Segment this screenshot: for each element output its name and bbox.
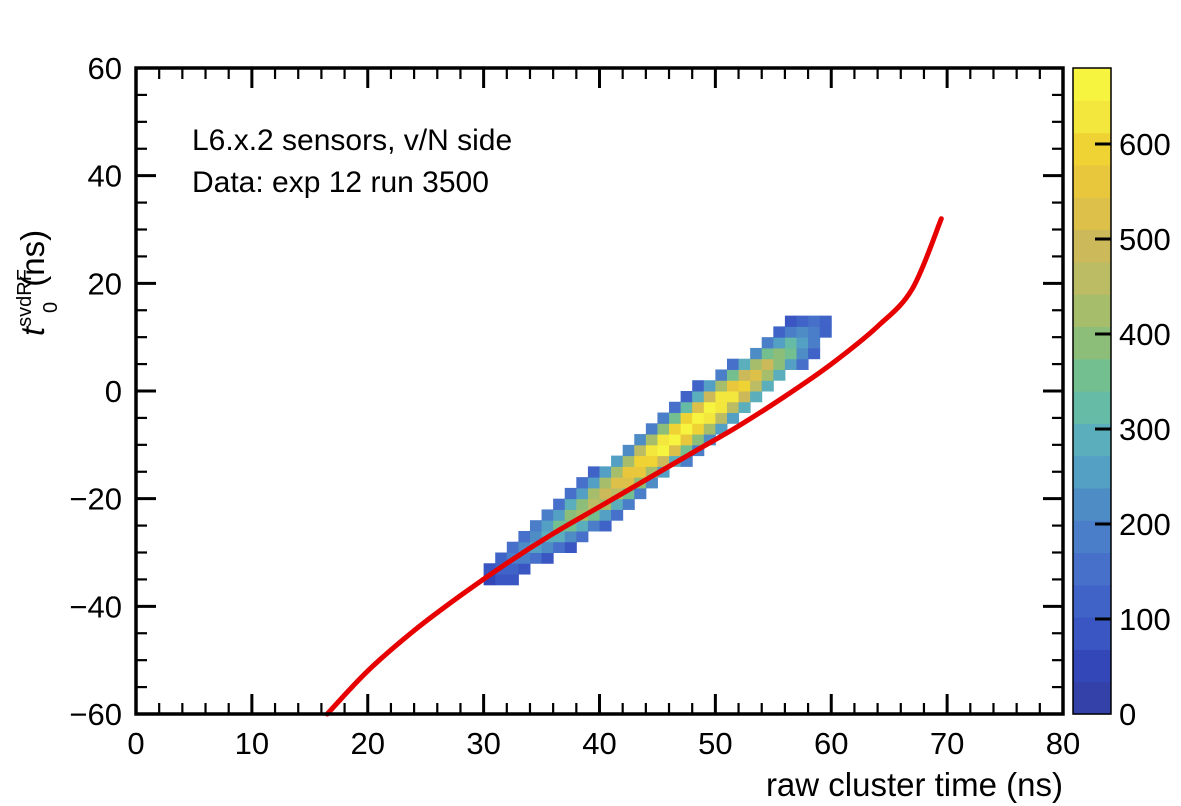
heatmap-bin [762,348,774,359]
heatmap-bin [762,359,774,370]
heatmap-bin [576,488,588,499]
x-tick-label: 40 [582,726,616,761]
colorbar-tick-label: 500 [1119,222,1171,257]
heatmap-bin [750,380,762,391]
heatmap-bin [785,326,797,337]
x-axis-title: raw cluster time (ns) [766,766,1063,803]
heatmap-bin [634,445,646,456]
heatmap-bin [600,509,612,520]
heatmap-bin [530,520,542,531]
heatmap-bin [576,499,588,510]
heatmap-bin [727,413,739,424]
heatmap-bin [623,445,635,456]
colorbar-segment [1073,682,1111,715]
heatmap-bin [623,466,635,477]
heatmap-bin [715,369,727,380]
heatmap-bin [681,434,693,445]
heatmap-bin [762,369,774,380]
heatmap-bin [796,326,808,337]
heatmap-bin [518,563,530,574]
colorbar-segment [1073,230,1111,263]
heatmap-bin [773,369,785,380]
canvas-background [0,0,1181,806]
y-tick-label: −20 [69,482,122,517]
x-tick-label: 0 [127,726,144,761]
heatmap-bin [611,456,623,467]
colorbar-tick-label: 600 [1119,127,1171,162]
heatmap-bin [669,423,681,434]
y-tick-label: −60 [69,697,122,732]
heatmap-bin [646,456,658,467]
heatmap-bin [796,337,808,348]
heatmap-bin [808,326,820,337]
heatmap-bin [692,402,704,413]
colorbar-segment [1073,294,1111,327]
heatmap-bin [600,488,612,499]
figure-canvas: 01020304050607080 −60−40−200204060 01002… [0,0,1181,806]
y-tick-label: 40 [88,159,122,194]
heatmap-bin [565,488,577,499]
heatmap-bin [507,574,519,585]
heatmap-bin [600,520,612,531]
heatmap-bin [762,337,774,348]
heatmap-bin [727,369,739,380]
heatmap-bin [739,369,751,380]
heatmap-bin [715,391,727,402]
heatmap-bin [739,391,751,402]
heatmap-bin [750,348,762,359]
y-tick-label: −40 [69,589,122,624]
heatmap-bin [692,423,704,434]
heatmap-bin [542,509,554,520]
heatmap-bin [796,359,808,370]
colorbar-segment [1073,326,1111,359]
heatmap-bin [692,413,704,424]
heatmap-bin [646,434,658,445]
y-tick-label: 20 [88,266,122,301]
heatmap-bin [600,466,612,477]
colorbar-segment [1073,456,1111,489]
heatmap-bin [808,337,820,348]
heatmap-bin [773,337,785,348]
heatmap-bin [542,553,554,564]
heatmap-bin [727,391,739,402]
colorbar-segment [1073,649,1111,682]
heatmap-bin [588,488,600,499]
heatmap-bin [727,402,739,413]
colorbar-segment [1073,617,1111,650]
x-tick-label: 50 [698,726,732,761]
colorbar-tick-label: 400 [1119,317,1171,352]
heatmap-bin [518,531,530,542]
heatmap-bin [704,413,716,424]
heatmap-bin [646,445,658,456]
colorbar-segment [1073,391,1111,424]
heatmap-bin [715,413,727,424]
heatmap-bin [634,488,646,499]
y-axis-title-subscript: 0 [40,302,62,313]
heatmap-bin [785,337,797,348]
heatmap-bin [727,359,739,370]
heatmap-bin [739,380,751,391]
x-tick-label: 10 [235,726,269,761]
heatmap-bin [623,499,635,510]
heatmap-bin [623,456,635,467]
heatmap-bin [739,359,751,370]
heatmap-bin [820,326,832,337]
heatmap-bin [611,466,623,477]
heatmap-bin [634,466,646,477]
heatmap-bin [611,477,623,488]
colorbar-segment [1073,68,1111,101]
heatmap-bin [773,326,785,337]
colorbar-tick-label: 300 [1119,412,1171,447]
heatmap-bin [495,574,507,585]
heatmap-bin [542,542,554,553]
heatmap-bin [750,369,762,380]
heatmap-bin [553,499,565,510]
heatmap-bin [588,466,600,477]
y-axis-title-unit: (ns) [14,230,51,296]
x-tick-label: 20 [351,726,385,761]
heatmap-bin [739,402,751,413]
heatmap-bin [762,380,774,391]
heatmap-bin [715,380,727,391]
heatmap-bin [808,316,820,327]
heatmap-bin [808,348,820,359]
heatmap-bin [704,391,716,402]
heatmap-bin [576,520,588,531]
heatmap-bin [669,413,681,424]
colorbar-segment [1073,359,1111,392]
annotation-sensors: L6.x.2 sensors, v/N side [192,124,512,157]
heatmap-bin [785,359,797,370]
annotation-dataset: Data: exp 12 run 3500 [192,166,489,199]
heatmap-bin [796,316,808,327]
heatmap-bin [553,509,565,520]
heatmap-bin [681,391,693,402]
colorbar-segment [1073,553,1111,586]
heatmap-bin [681,423,693,434]
x-tick-label: 30 [466,726,500,761]
heatmap-bin [692,434,704,445]
heatmap-bin [646,423,658,434]
heatmap-bin [669,434,681,445]
heatmap-bin [669,402,681,413]
heatmap-bin [692,391,704,402]
colorbar-tick-label: 200 [1119,507,1171,542]
heatmap-bin [611,509,623,520]
colorbar-segment [1073,585,1111,618]
heatmap-bin [704,380,716,391]
y-tick-label: 60 [88,51,122,86]
x-tick-label: 60 [814,726,848,761]
heatmap-bin [657,423,669,434]
heatmap-bin [773,359,785,370]
heatmap-bin [507,542,519,553]
colorbar-tick-label: 0 [1119,697,1136,732]
heatmap-bin [588,477,600,488]
x-tick-label: 80 [1046,726,1080,761]
colorbar-segment [1073,197,1111,230]
heatmap-bin [542,520,554,531]
heatmap-bin [565,542,577,553]
colorbar-segment [1073,488,1111,521]
heatmap-bin [715,402,727,413]
heatmap-bin [634,456,646,467]
heatmap-bin [657,413,669,424]
heatmap-bin [785,348,797,359]
heatmap-bin [588,520,600,531]
heatmap-bin [681,413,693,424]
colorbar-tick-label: 100 [1119,602,1171,637]
heatmap-bin [785,316,797,327]
heatmap-bin [576,531,588,542]
heatmap-bin [727,380,739,391]
heatmap-bin [657,434,669,445]
colorbar-segment [1073,100,1111,133]
heatmap-bin [576,477,588,488]
x-tick-label: 70 [930,726,964,761]
heatmap-bin [750,391,762,402]
heatmap-bin [565,499,577,510]
colorbar-segment [1073,262,1111,295]
heatmap-bin [820,316,832,327]
heatmap-bin [681,402,693,413]
y-tick-label: 0 [105,374,122,409]
colorbar-segment [1073,133,1111,166]
heatmap-bin [530,553,542,564]
heatmap-bin [657,445,669,456]
heatmap-bin [669,445,681,456]
heatmap-bin [704,423,716,434]
heatmap-bin [750,359,762,370]
heatmap-bin [565,531,577,542]
plot-svg: 01020304050607080 −60−40−200204060 01002… [0,0,1181,806]
heatmap-bin [796,348,808,359]
heatmap-bin [600,477,612,488]
heatmap-bin [634,434,646,445]
heatmap-bin [553,542,565,553]
colorbar-segment [1073,165,1111,198]
heatmap-bin [704,402,716,413]
heatmap-bin [773,348,785,359]
heatmap-bin [692,380,704,391]
